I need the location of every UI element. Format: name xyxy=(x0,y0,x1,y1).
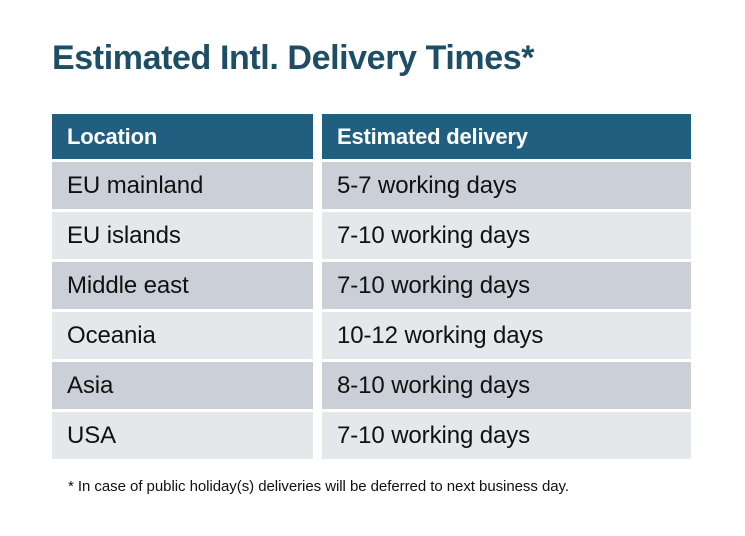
delivery-times-table: Location Estimated delivery EU mainland … xyxy=(52,114,691,459)
cell-location: EU islands xyxy=(52,212,313,259)
cell-estimated-delivery: 10-12 working days xyxy=(322,312,691,359)
cell-estimated-delivery: 7-10 working days xyxy=(322,262,691,309)
cell-estimated-delivery: 5-7 working days xyxy=(322,162,691,209)
cell-location: EU mainland xyxy=(52,162,313,209)
cell-location: Oceania xyxy=(52,312,313,359)
table-row: Oceania 10-12 working days xyxy=(52,312,691,359)
table-row: Middle east 7-10 working days xyxy=(52,262,691,309)
cell-estimated-delivery: 7-10 working days xyxy=(322,412,691,459)
cell-estimated-delivery: 7-10 working days xyxy=(322,212,691,259)
column-header-location: Location xyxy=(52,114,313,159)
table-header-row: Location Estimated delivery xyxy=(52,114,691,159)
cell-location: USA xyxy=(52,412,313,459)
page-title: Estimated Intl. Delivery Times* xyxy=(52,36,534,80)
column-header-estimated-delivery: Estimated delivery xyxy=(322,114,691,159)
footnote-text: * In case of public holiday(s) deliverie… xyxy=(68,478,569,495)
cell-location: Middle east xyxy=(52,262,313,309)
table-row: Asia 8-10 working days xyxy=(52,362,691,409)
table-row: EU islands 7-10 working days xyxy=(52,212,691,259)
cell-estimated-delivery: 8-10 working days xyxy=(322,362,691,409)
delivery-times-card: Estimated Intl. Delivery Times* Location… xyxy=(0,0,745,536)
table-row: USA 7-10 working days xyxy=(52,412,691,459)
cell-location: Asia xyxy=(52,362,313,409)
table-row: EU mainland 5-7 working days xyxy=(52,162,691,209)
